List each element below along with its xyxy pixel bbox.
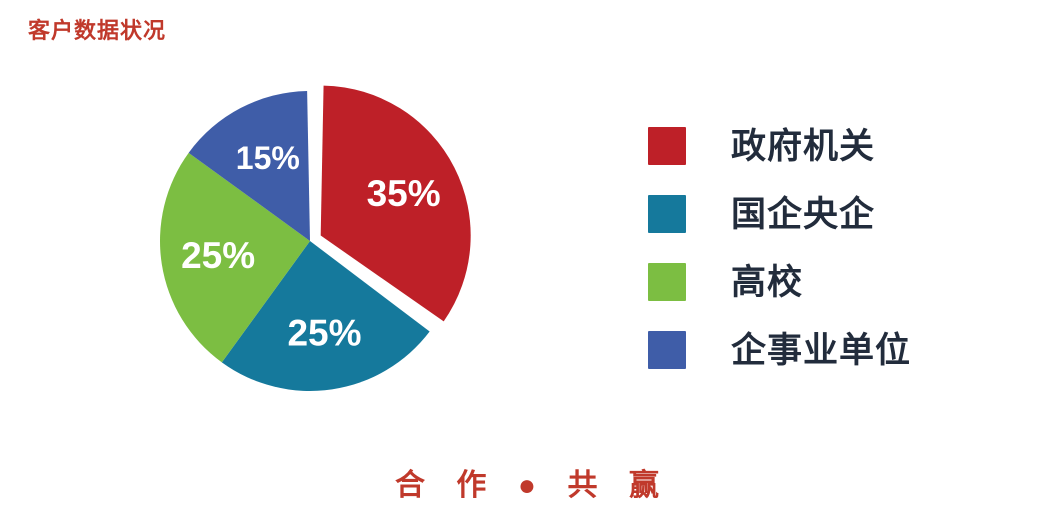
legend-swatch-icon-2 — [648, 263, 686, 301]
legend-swatch-icon-1 — [648, 195, 686, 233]
legend-swatch-icon-3 — [648, 331, 686, 369]
legend-label-1: 国企央企 — [731, 197, 875, 232]
pie-slice-label-3: 15% — [236, 140, 300, 176]
legend-item-1[interactable]: 国企央企 — [648, 180, 978, 248]
legend-item-3[interactable]: 企事业单位 — [648, 316, 978, 384]
legend-label-3: 企事业单位 — [731, 333, 911, 368]
pie-slice-label-1: 25% — [287, 312, 361, 353]
legend-label-0: 政府机关 — [731, 129, 875, 164]
chart-legend: 政府机关 国企央企 高校 企事业单位 — [648, 112, 978, 384]
footer-slogan: 合 作 ● 共 赢 — [0, 460, 1054, 504]
legend-label-2: 高校 — [731, 265, 803, 300]
pie-chart: 35%25%25%15% — [150, 78, 490, 408]
legend-item-0[interactable]: 政府机关 — [648, 112, 978, 180]
legend-item-2[interactable]: 高校 — [648, 248, 978, 316]
pie-chart-svg: 35%25%25%15% — [150, 78, 490, 408]
page-title: 客户数据状况 — [28, 18, 166, 44]
pie-slice-label-0: 35% — [367, 173, 441, 214]
legend-swatch-icon-0 — [648, 127, 686, 165]
slide-canvas: 客户数据状况 35%25%25%15% 政府机关 国企央企 高校 企事业单位 合… — [0, 0, 1054, 531]
pie-slice-label-2: 25% — [181, 235, 255, 276]
